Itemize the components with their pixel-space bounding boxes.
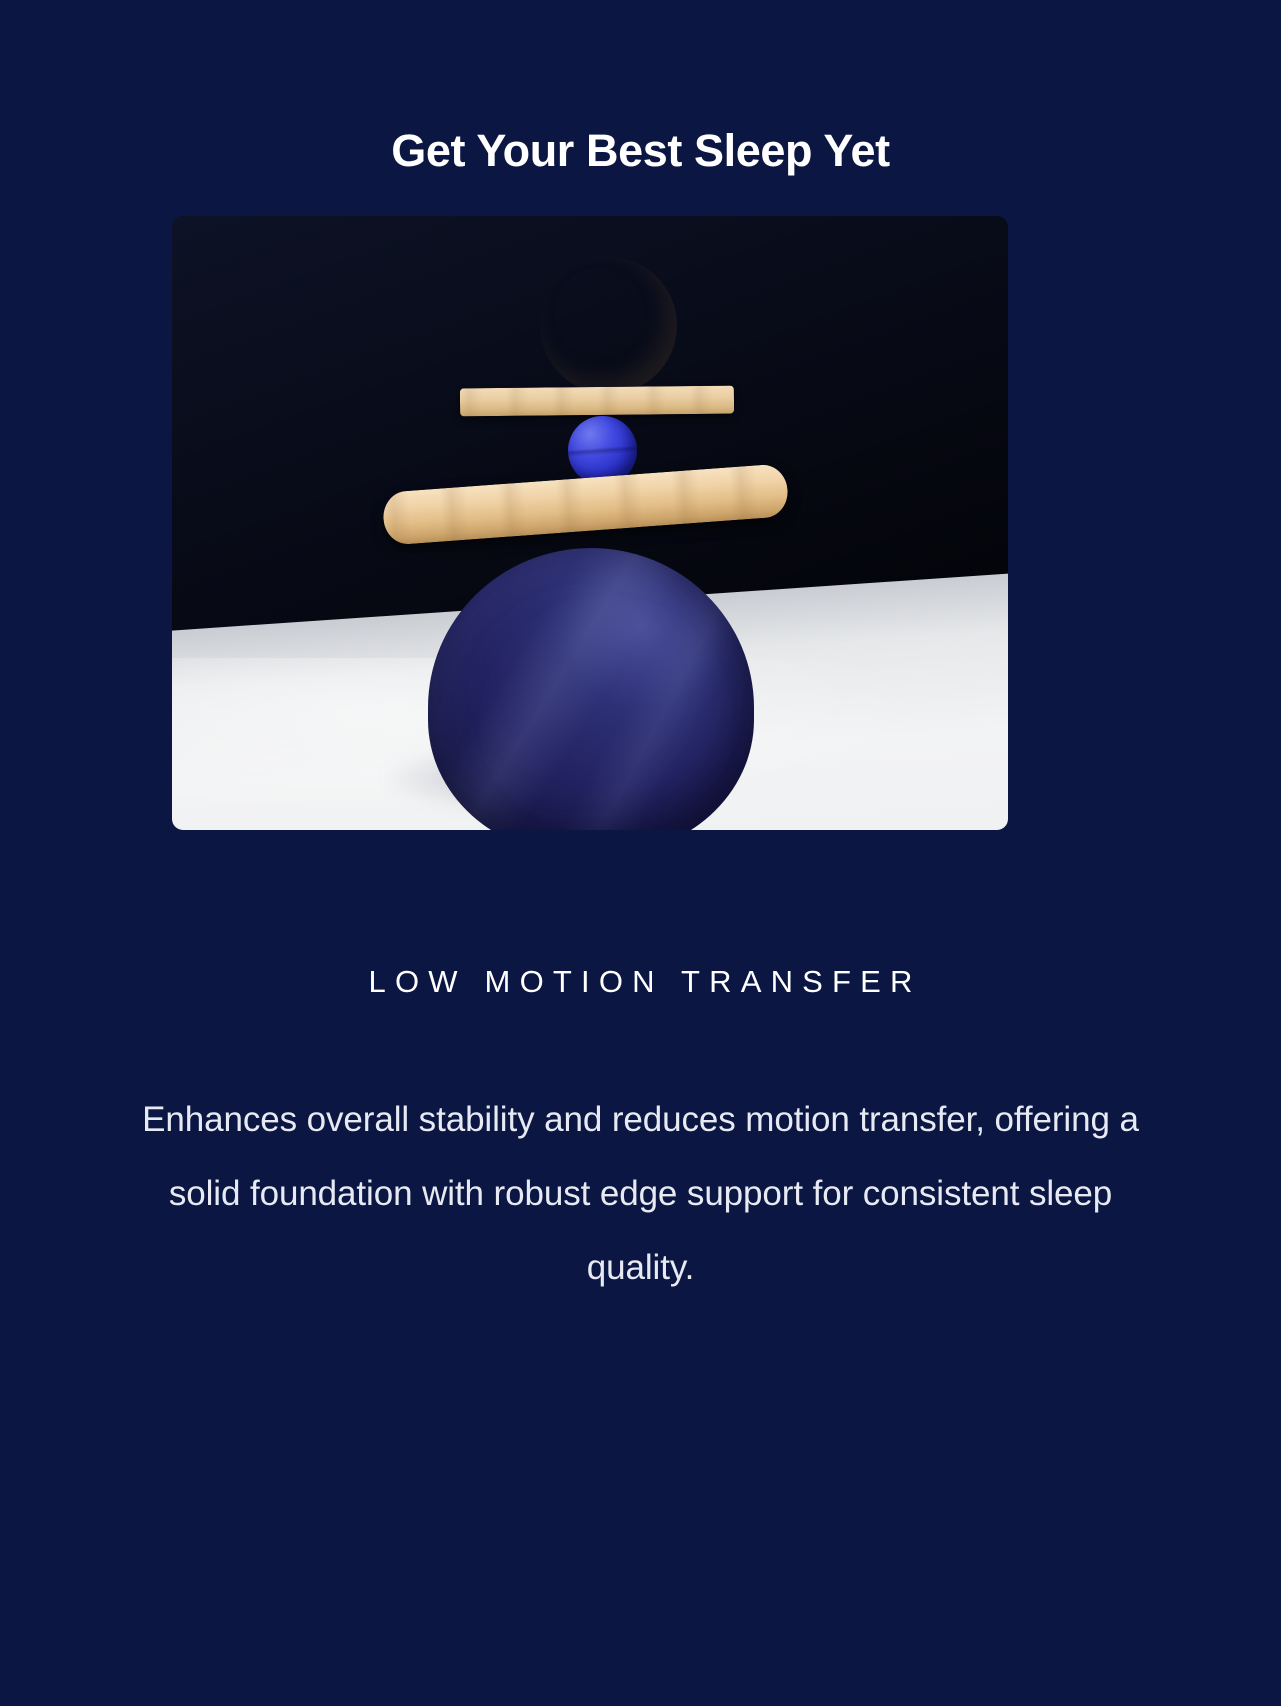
promo-page: Get Your Best Sleep Yet LOW MOTION TRANS… — [0, 0, 1281, 1706]
navy-dome-icon — [428, 548, 754, 830]
feature-description: Enhances overall stability and reduces m… — [140, 1083, 1141, 1305]
feature-heading: LOW MOTION TRANSFER — [0, 964, 1281, 1000]
page-title: Get Your Best Sleep Yet — [0, 126, 1281, 176]
white-wood-sphere-icon — [540, 257, 677, 395]
feature-image-card — [172, 216, 1008, 830]
balanced-object-stack — [172, 216, 1008, 830]
upper-wood-plank-icon — [460, 385, 734, 416]
